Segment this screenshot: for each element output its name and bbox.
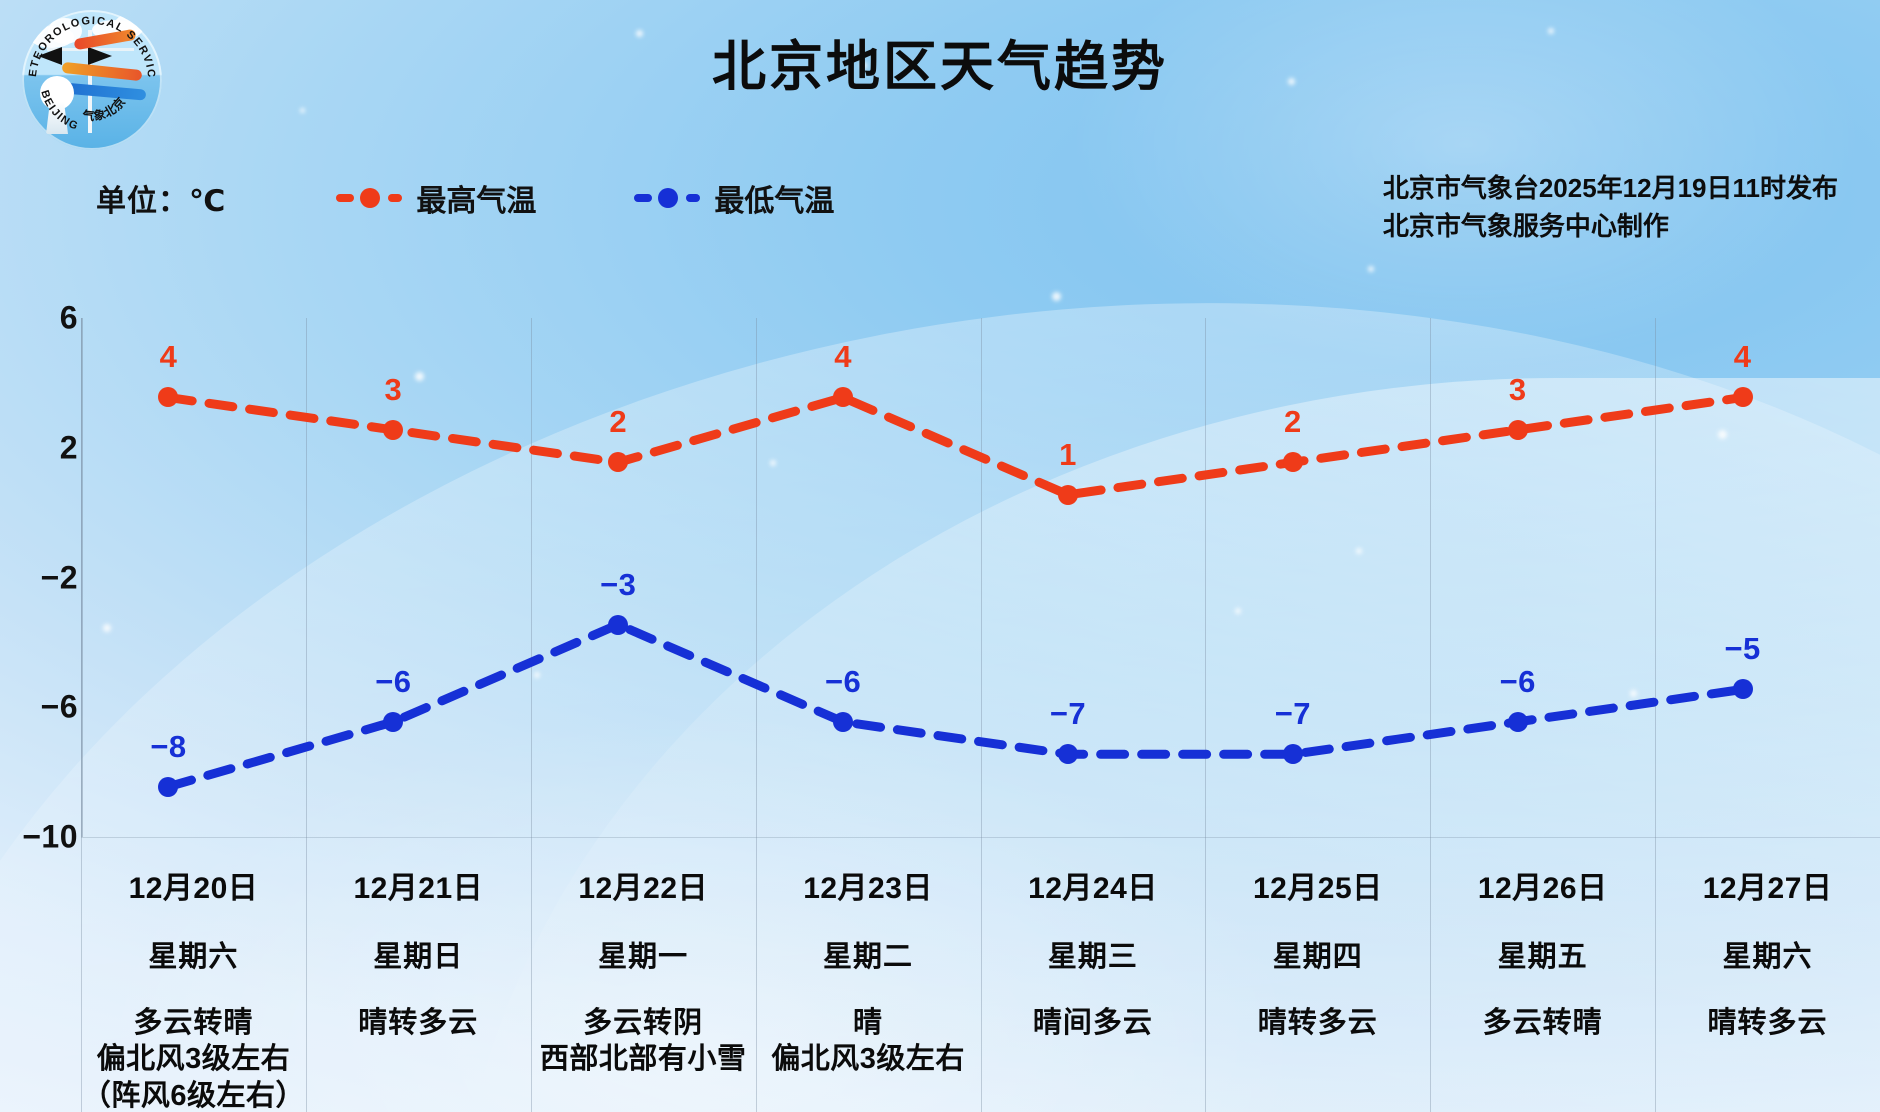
forecast-day-3[interactable]: 12月22日星期一多云转阴西部北部有小雪 — [531, 845, 756, 1112]
day-weekday-3: 星期一 — [598, 933, 688, 975]
forecast-day-4[interactable]: 12月23日星期二晴偏北风3级左右 — [756, 845, 981, 1112]
day-weather-7: 多云转晴 — [1483, 1005, 1603, 1041]
forecast-day-5[interactable]: 12月24日星期三晴间多云 — [981, 845, 1206, 1112]
day-date-1: 12月20日 — [129, 863, 259, 907]
forecast-day-7[interactable]: 12月26日星期五多云转晴 — [1430, 845, 1655, 1112]
issuer-line-2: 北京市气象服务中心制作 — [1383, 208, 1838, 246]
day-weather-8: 晴转多云 — [1708, 1005, 1828, 1041]
day-weather-4: 晴 — [853, 1005, 883, 1041]
day-date-7: 12月26日 — [1478, 863, 1608, 907]
day-weekday-2: 星期日 — [373, 933, 463, 975]
day-date-3: 12月22日 — [578, 863, 708, 907]
day-date-4: 12月23日 — [803, 863, 933, 907]
page-title: 北京地区天气趋势 — [0, 22, 1880, 101]
day-date-5: 12月24日 — [1028, 863, 1158, 907]
day-weekday-6: 星期四 — [1273, 933, 1363, 975]
forecast-day-1[interactable]: 12月20日星期六多云转晴偏北风3级左右（阵风6级左右） — [81, 845, 306, 1112]
day-weather-6: 晴转多云 — [1258, 1005, 1378, 1041]
day-weather-3: 多云转阴 — [583, 1005, 703, 1041]
issuer-line-1: 北京市气象台2025年12月19日11时发布 — [1383, 170, 1838, 208]
issuer-block: 北京市气象台2025年12月19日11时发布 北京市气象服务中心制作 — [1383, 170, 1838, 245]
day-gust-1: （阵风6级左右） — [82, 1078, 305, 1112]
legend-unit-label: 单位：℃ — [96, 176, 226, 220]
forecast-day-2[interactable]: 12月21日星期日晴转多云 — [306, 845, 531, 1112]
legend: 单位：℃ 最高气温 最低气温 — [96, 176, 834, 220]
forecast-day-8[interactable]: 12月27日星期六晴转多云 — [1655, 845, 1880, 1112]
legend-item-low: 最低气温 — [634, 176, 834, 220]
day-wind-4: 偏北风3级左右 — [771, 1041, 965, 1077]
forecast-day-6[interactable]: 12月25日星期四晴转多云 — [1205, 845, 1430, 1112]
day-weekday-5: 星期三 — [1048, 933, 1138, 975]
day-weekday-8: 星期六 — [1723, 933, 1813, 975]
day-weather-2: 晴转多云 — [358, 1005, 478, 1041]
day-weather-1: 多云转晴 — [133, 1005, 253, 1041]
day-date-8: 12月27日 — [1703, 863, 1833, 907]
day-weather-5: 晴间多云 — [1033, 1005, 1153, 1041]
day-weekday-7: 星期五 — [1498, 933, 1588, 975]
legend-swatch-high-icon — [336, 191, 402, 205]
weather-trend-poster: METEOROLOGICAL SERVICE BEIJING 气象北京 北京地区… — [0, 0, 1880, 1112]
day-date-6: 12月25日 — [1253, 863, 1383, 907]
day-wind-3: 西部北部有小雪 — [540, 1041, 747, 1077]
legend-swatch-low-icon — [634, 191, 700, 205]
day-weekday-1: 星期六 — [148, 933, 238, 975]
legend-label-low: 最低气温 — [714, 176, 834, 220]
legend-label-high: 最高气温 — [416, 176, 536, 220]
legend-item-high: 最高气温 — [336, 176, 536, 220]
day-wind-1: 偏北风3级左右 — [97, 1041, 291, 1077]
day-weekday-4: 星期二 — [823, 933, 913, 975]
day-date-2: 12月21日 — [353, 863, 483, 907]
forecast-day-columns: 12月20日星期六多云转晴偏北风3级左右（阵风6级左右）12月21日星期日晴转多… — [81, 845, 1880, 1112]
